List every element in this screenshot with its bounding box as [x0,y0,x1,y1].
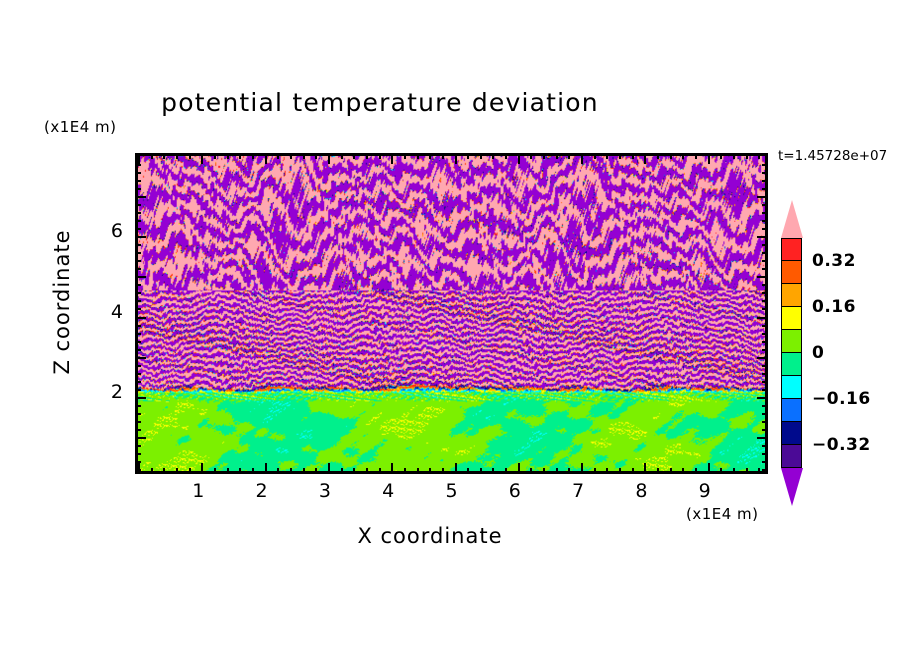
tick-mark [176,468,178,474]
tick-mark [135,268,141,270]
tick-mark [353,468,355,474]
x-tick-label: 7 [563,480,593,502]
tick-mark [265,463,267,474]
tick-mark [762,244,768,246]
tick-mark [135,341,141,343]
colorbar-over-arrow [781,200,803,238]
tick-mark [695,468,697,474]
tick-mark [670,153,672,159]
x-tick-label: 5 [437,480,467,502]
tick-mark [201,153,203,164]
tick-mark [606,468,608,474]
tick-mark [135,172,141,174]
tick-mark [379,468,381,474]
colorbar-label: 0 [812,343,824,363]
tick-mark [227,468,229,474]
tick-mark [135,333,141,335]
tick-mark [581,463,583,474]
tick-mark [762,188,768,190]
tick-mark [657,468,659,474]
tick-mark [176,153,178,159]
tick-mark [757,397,768,399]
tick-mark [762,284,768,286]
colorbar-band [781,261,802,284]
tick-mark [762,228,768,230]
tick-mark [366,153,368,159]
tick-mark [135,276,146,278]
tick-mark [543,468,545,474]
tick-mark [762,349,768,351]
tick-mark [201,463,203,474]
colorbar-label: −0.16 [812,389,871,409]
tick-mark [227,153,229,159]
x-tick-label: 4 [373,480,403,502]
tick-mark [135,445,141,447]
y-tick-label: 4 [83,301,123,323]
tick-mark [492,468,494,474]
tick-mark [758,153,760,159]
colorbar-label: −0.32 [812,435,871,455]
tick-mark [135,300,141,302]
tick-mark [762,413,768,415]
tick-mark [762,373,768,375]
tick-mark [708,153,710,164]
colorbar-under-arrow [781,468,803,506]
tick-mark [530,468,532,474]
tick-mark [762,220,768,222]
tick-mark [762,260,768,262]
tick-mark [757,357,768,359]
x-axis-unit-label: (x1E4 m) [686,505,759,523]
tick-mark [135,260,141,262]
tick-mark [151,153,153,159]
tick-mark [505,468,507,474]
tick-mark [762,365,768,367]
colorbar-band [781,445,802,468]
tick-mark [556,468,558,474]
tick-mark [135,373,141,375]
tick-mark [757,196,768,198]
tick-mark [581,153,583,164]
tick-mark [746,153,748,159]
tick-mark [762,308,768,310]
tick-mark [429,153,431,159]
tick-mark [214,468,216,474]
tick-mark [135,397,146,399]
tick-mark [135,365,141,367]
tick-mark [757,276,768,278]
tick-mark [762,172,768,174]
tick-mark [594,468,596,474]
colorbar[interactable]: 0.320.160−0.16−0.32 [780,200,808,506]
tick-mark [657,153,659,159]
tick-mark [682,468,684,474]
y-axis-title: Z coordinate [50,222,74,382]
tick-mark [303,153,305,159]
tick-mark [353,153,355,159]
tick-mark [733,468,735,474]
tick-mark [720,153,722,159]
tick-mark [455,463,457,474]
tick-mark [695,153,697,159]
tick-mark [328,153,330,164]
tick-mark [135,164,141,166]
tick-mark [762,429,768,431]
tick-mark [644,463,646,474]
tick-mark [135,188,141,190]
tick-mark [341,468,343,474]
tick-mark [720,468,722,474]
tick-mark [252,153,254,159]
tick-mark [252,468,254,474]
tick-mark [530,153,532,159]
x-tick-label: 6 [500,480,530,502]
tick-mark [746,468,748,474]
tick-mark [568,468,570,474]
tick-mark [568,153,570,159]
tick-mark [277,468,279,474]
tick-mark [265,153,267,164]
tick-mark [762,405,768,407]
x-tick-label: 8 [626,480,656,502]
tick-mark [762,469,768,471]
tick-mark [758,468,760,474]
tick-mark [682,153,684,159]
tick-mark [733,153,735,159]
tick-mark [404,153,406,159]
tick-mark [492,153,494,159]
tick-mark [239,153,241,159]
tick-mark [163,153,165,159]
x-tick-label: 2 [247,480,277,502]
colorbar-band [781,307,802,330]
tick-mark [135,325,141,327]
tick-mark [467,153,469,159]
tick-mark [135,196,146,198]
tick-mark [135,228,141,230]
tick-mark [594,153,596,159]
colorbar-band [781,330,802,353]
tick-mark [135,357,146,359]
tick-mark [277,153,279,159]
tick-mark [762,204,768,206]
tick-mark [518,463,520,474]
temperature-deviation-field [138,156,765,471]
tick-mark [762,333,768,335]
tick-mark [391,153,393,164]
contour-plot-area[interactable] [135,153,768,474]
colorbar-band [781,422,802,445]
tick-mark [505,153,507,159]
tick-mark [762,461,768,463]
y-tick-label: 2 [83,381,123,403]
tick-mark [366,468,368,474]
tick-mark [290,468,292,474]
tick-mark [762,445,768,447]
tick-mark [303,468,305,474]
tick-mark [708,463,710,474]
colorbar-label: 0.16 [812,297,856,317]
tick-mark [632,468,634,474]
tick-mark [290,153,292,159]
tick-mark [762,421,768,423]
tick-mark [135,284,141,286]
tick-mark [135,349,141,351]
tick-mark [417,468,419,474]
y-axis-unit-label: (x1E4 m) [44,118,117,136]
tick-mark [442,153,444,159]
tick-mark [757,437,768,439]
tick-mark [341,153,343,159]
tick-mark [135,405,141,407]
tick-mark [135,220,141,222]
tick-mark [135,244,141,246]
tick-mark [135,317,146,319]
tick-mark [328,463,330,474]
tick-mark [135,437,146,439]
tick-mark [619,468,621,474]
tick-mark [189,153,191,159]
tick-mark [214,153,216,159]
tick-mark [518,153,520,164]
tick-mark [619,153,621,159]
tick-mark [404,468,406,474]
tick-mark [151,468,153,474]
x-tick-label: 3 [310,480,340,502]
tick-mark [762,341,768,343]
colorbar-bands [780,238,808,468]
timestamp-annotation: t=1.45728e+07 [778,148,887,164]
tick-mark [135,180,141,182]
tick-mark [135,421,141,423]
y-tick-label: 6 [83,220,123,242]
tick-mark [762,252,768,254]
tick-mark [762,300,768,302]
tick-mark [239,468,241,474]
tick-mark [762,292,768,294]
tick-mark [135,469,141,471]
tick-mark [379,153,381,159]
tick-mark [632,153,634,159]
colorbar-label: 0.32 [812,251,856,271]
tick-mark [135,212,141,214]
tick-mark [455,153,457,164]
tick-mark [138,153,140,164]
tick-mark [135,292,141,294]
tick-mark [163,468,165,474]
x-tick-label: 1 [183,480,213,502]
tick-mark [762,381,768,383]
tick-mark [762,389,768,391]
tick-mark [757,317,768,319]
tick-mark [135,453,141,455]
tick-mark [480,468,482,474]
colorbar-band [781,399,802,422]
tick-mark [135,308,141,310]
tick-mark [644,153,646,164]
tick-mark [762,268,768,270]
tick-mark [135,204,141,206]
colorbar-band [781,376,802,399]
tick-mark [762,180,768,182]
tick-mark [315,468,317,474]
colorbar-band [781,238,802,261]
tick-mark [189,468,191,474]
tick-mark [135,413,141,415]
tick-mark [467,468,469,474]
tick-mark [606,153,608,159]
x-tick-label: 9 [690,480,720,502]
tick-mark [429,468,431,474]
tick-mark [556,153,558,159]
tick-mark [543,153,545,159]
tick-mark [670,468,672,474]
tick-mark [762,212,768,214]
tick-mark [757,236,768,238]
tick-mark [135,429,141,431]
tick-mark [480,153,482,159]
tick-mark [762,453,768,455]
tick-mark [135,381,141,383]
tick-mark [135,252,141,254]
tick-mark [762,325,768,327]
tick-mark [315,153,317,159]
tick-mark [135,236,146,238]
tick-mark [391,463,393,474]
tick-mark [135,461,141,463]
tick-mark [442,468,444,474]
colorbar-band [781,353,802,376]
tick-mark [417,153,419,159]
x-axis-title: X coordinate [260,524,600,548]
tick-mark [135,389,141,391]
tick-mark [762,164,768,166]
colorbar-band [781,284,802,307]
page-title: potential temperature deviation [0,88,760,117]
